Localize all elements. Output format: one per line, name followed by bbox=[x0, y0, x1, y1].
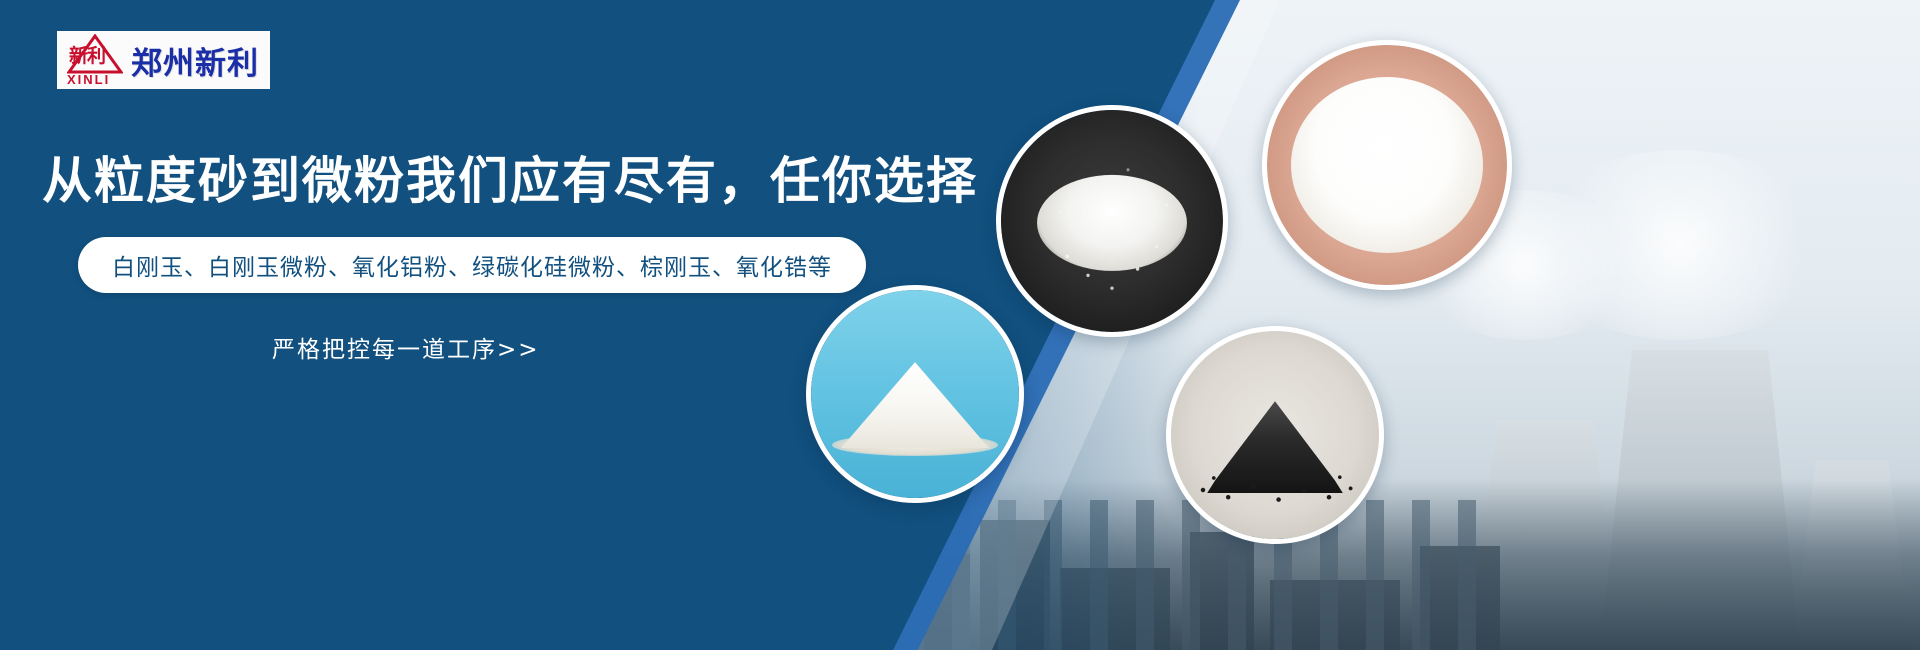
powder-cone bbox=[841, 362, 989, 448]
company-name: 郑州新利 bbox=[131, 38, 259, 83]
logo-mark-pinyin: XINLI bbox=[67, 73, 110, 86]
logo-triangle-mark: 新利 XINLI bbox=[63, 33, 127, 87]
products-pill-label: 白刚玉、白刚玉微粉、氧化铝粉、绿碳化硅微粉、棕刚玉、氧化锆等 bbox=[112, 248, 832, 282]
product-photo-white-powder[interactable] bbox=[1262, 40, 1512, 290]
white-powder-pile bbox=[1291, 77, 1483, 253]
products-pill[interactable]: 白刚玉、白刚玉微粉、氧化铝粉、绿碳化硅微粉、棕刚玉、氧化锆等 bbox=[78, 237, 866, 293]
process-cta-link[interactable]: 严格把控每一道工序>> bbox=[272, 330, 540, 364]
company-logo[interactable]: 新利 XINLI 郑州新利 bbox=[57, 31, 270, 89]
headline: 从粒度砂到微粉我们应有尽有，任你选择 bbox=[42, 141, 978, 213]
white-sand-grains bbox=[1032, 141, 1192, 301]
promo-banner: 新利 XINLI 郑州新利 从粒度砂到微粉我们应有尽有，任你选择 白刚玉、白刚玉… bbox=[0, 0, 1920, 650]
product-photo-black-grit[interactable] bbox=[1166, 326, 1384, 544]
logo-mark-chinese: 新利 bbox=[69, 47, 105, 66]
product-photo-white-sand[interactable] bbox=[996, 105, 1228, 337]
product-photo-alumina-powder[interactable] bbox=[806, 285, 1024, 503]
black-grit-grains bbox=[1185, 466, 1365, 506]
